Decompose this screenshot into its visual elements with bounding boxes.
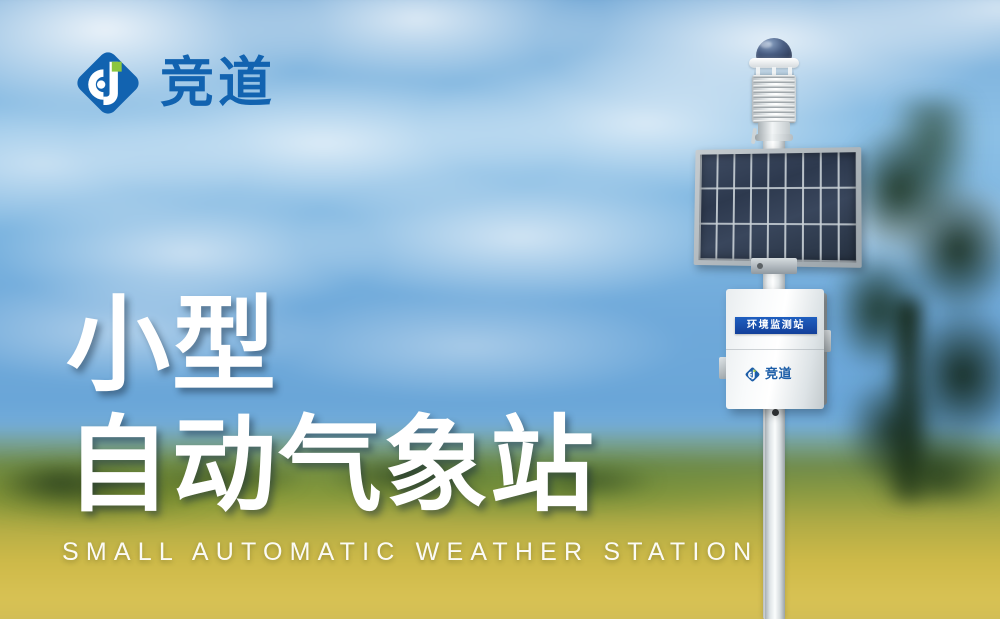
headline-line-2: 自动气象站 [66,412,596,518]
headline-line-1: 小型 [66,292,596,398]
product-banner: 竞道 小型 自动气象站 SMALL AUTOMATIC WEATHER STAT… [0,0,1000,619]
subtitle: SMALL AUTOMATIC WEATHER STATION [62,538,758,567]
headline-block: 小型 自动气象站 [66,292,596,518]
tree-foliage [838,100,1000,500]
brand-logo: 竞道 [70,45,276,121]
jingdao-diamond-logo-icon [70,45,146,121]
brand-name: 竞道 [160,56,276,110]
